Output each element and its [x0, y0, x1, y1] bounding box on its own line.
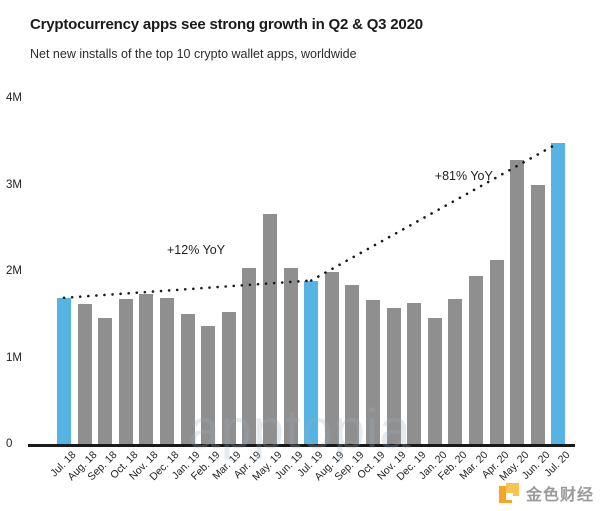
- chart-subtitle: Net new installs of the top 10 crypto wa…: [30, 47, 357, 61]
- y-axis-tick-3M: 3M: [6, 179, 44, 191]
- plot-area: 4M3M2M1M0 +12% YoY+81% YoY: [50, 98, 575, 444]
- annotation--81-yoy: +81% YoY: [435, 169, 493, 183]
- bar-dec18[interactable]: [160, 298, 174, 444]
- bar-apr20[interactable]: [490, 260, 504, 444]
- y-axis-tick-2M: 2M: [6, 265, 44, 277]
- bar-mar20[interactable]: [469, 276, 483, 444]
- bar-jul18[interactable]: [57, 298, 71, 444]
- annotation--12-yoy: +12% YoY: [167, 243, 225, 257]
- golden-finance-logo-icon: [499, 483, 519, 503]
- y-axis-tick-4M: 4M: [6, 92, 44, 104]
- chart-title: Cryptocurrency apps see strong growth in…: [30, 16, 423, 33]
- brand-watermark-text: 金色财经: [526, 481, 594, 505]
- bar-series: [50, 98, 575, 444]
- bar-nov18[interactable]: [139, 294, 153, 445]
- bar-oct18[interactable]: [119, 299, 133, 444]
- chart-card: Cryptocurrency apps see strong growth in…: [0, 0, 600, 511]
- apptopia-watermark: apptopia: [189, 396, 412, 461]
- bar-sep18[interactable]: [98, 318, 112, 444]
- bar-jun20[interactable]: [531, 185, 545, 444]
- y-axis-tick-1M: 1M: [6, 352, 44, 364]
- brand-watermark: 金色财经: [499, 481, 594, 505]
- bar-jul20[interactable]: [551, 143, 565, 444]
- bar-feb20[interactable]: [448, 299, 462, 444]
- bar-aug18[interactable]: [78, 304, 92, 444]
- bar-may20[interactable]: [510, 160, 524, 444]
- bar-jan20[interactable]: [428, 318, 442, 444]
